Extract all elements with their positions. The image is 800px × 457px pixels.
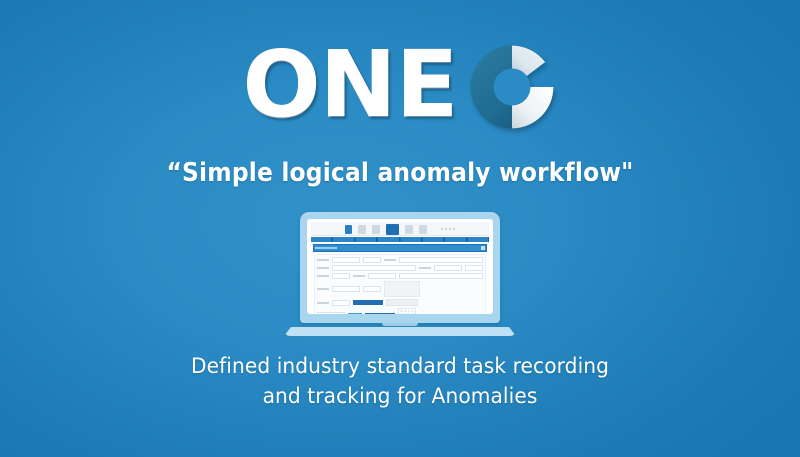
app-title-text — [315, 247, 337, 249]
primary-action-button[interactable] — [353, 300, 383, 305]
nav-tab[interactable] — [311, 237, 332, 242]
laptop-screen — [307, 219, 493, 314]
field-input[interactable] — [363, 286, 381, 292]
field-input[interactable] — [434, 265, 462, 271]
ribbon-overflow-dots[interactable] — [441, 228, 455, 230]
field-input[interactable] — [399, 257, 483, 263]
secondary-action-button[interactable] — [386, 299, 418, 306]
form-preview-box — [384, 281, 420, 297]
ribbon-icon-5[interactable] — [419, 225, 427, 234]
field-label — [317, 288, 329, 290]
form-row — [317, 281, 483, 297]
laptop-mockup — [284, 212, 516, 336]
brand-logo: ONE — [0, 33, 800, 137]
field-input[interactable] — [368, 273, 396, 279]
nav-tab[interactable] — [401, 237, 422, 242]
app-toolbar — [311, 222, 489, 236]
swirl-ring-icon — [466, 41, 558, 133]
app-form-panel — [314, 254, 486, 314]
nav-tab[interactable] — [378, 237, 399, 242]
field-label — [384, 259, 396, 261]
nav-tab[interactable] — [468, 237, 489, 242]
tertiary-action-button[interactable] — [348, 313, 362, 315]
nav-tab[interactable] — [423, 237, 444, 242]
field-label — [317, 302, 329, 304]
app-brand-icon — [345, 225, 352, 234]
form-row — [317, 257, 483, 263]
field-input[interactable] — [317, 312, 345, 314]
field-input[interactable] — [363, 257, 381, 263]
caption-line-1: Defined industry standard task recording — [16, 352, 784, 382]
form-row — [317, 265, 483, 271]
field-input[interactable] — [399, 273, 483, 279]
field-label — [317, 275, 329, 277]
caption: Defined industry standard task recording… — [16, 352, 784, 412]
field-input[interactable] — [465, 265, 483, 271]
ribbon-icon-1[interactable] — [358, 225, 366, 234]
calendar-grid-widget[interactable] — [398, 308, 416, 314]
nav-tab[interactable] — [356, 237, 377, 242]
laptop-lid — [300, 212, 500, 323]
field-label — [317, 259, 329, 261]
field-input[interactable] — [332, 286, 360, 292]
app-title-bar — [313, 244, 487, 252]
field-label — [353, 275, 365, 277]
nav-tab[interactable] — [445, 237, 466, 242]
tagline: “Simple logical anomaly workflow" — [40, 158, 760, 188]
form-row — [317, 273, 483, 279]
ribbon-icon-4[interactable] — [405, 225, 413, 234]
app-nav-bar[interactable] — [311, 237, 489, 242]
field-input[interactable] — [332, 300, 350, 306]
app-titlebar-button[interactable] — [481, 246, 485, 250]
submit-button[interactable] — [365, 313, 395, 315]
field-label — [317, 267, 329, 269]
field-input[interactable] — [332, 257, 360, 263]
laptop-base — [284, 327, 516, 336]
ribbon-icon-active[interactable] — [386, 224, 399, 235]
form-row — [317, 308, 483, 314]
laptop-hinge-notch — [382, 323, 418, 326]
promo-slide: ONE “Simple logical anomaly workflow" — [0, 0, 800, 457]
field-input[interactable] — [332, 273, 350, 279]
field-label — [419, 267, 431, 269]
caption-line-2: and tracking for Anomalies — [16, 382, 784, 412]
field-input[interactable] — [332, 265, 416, 271]
form-row — [317, 299, 483, 306]
logo-wordmark: ONE — [242, 39, 457, 131]
nav-tab[interactable] — [333, 237, 354, 242]
ribbon-icon-2[interactable] — [372, 225, 380, 234]
